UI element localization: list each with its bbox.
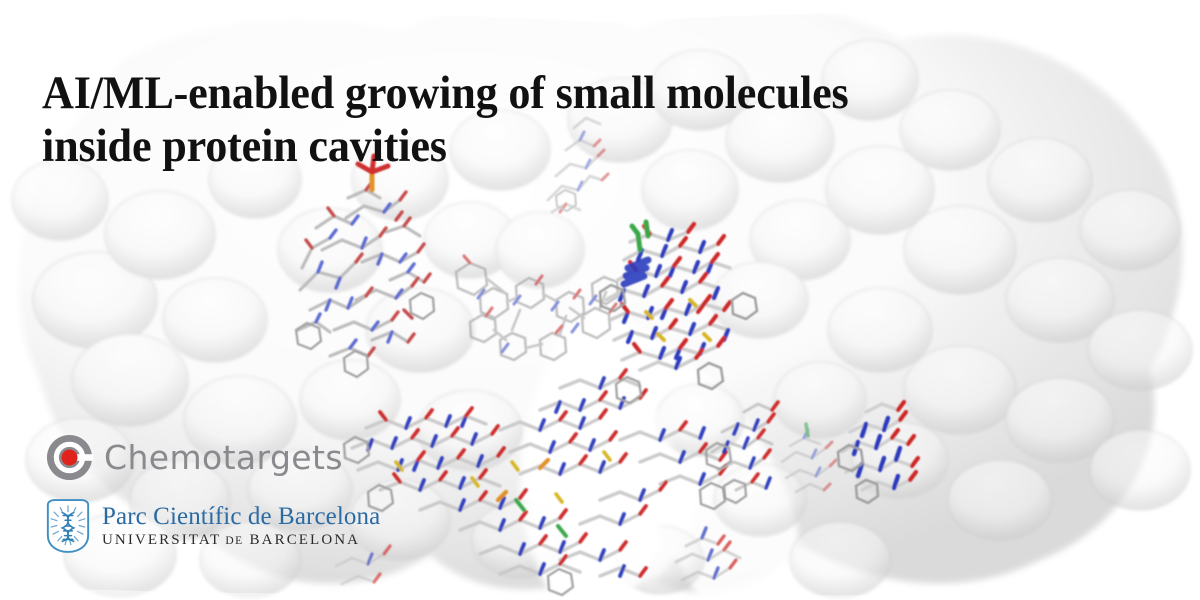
pcb-university-prefix: UNIVERSITAT	[102, 532, 221, 548]
headline: AI/ML-enabled growing of small molecules…	[42, 67, 1038, 173]
banner: AI/ML-enabled growing of small molecules…	[0, 0, 1200, 600]
pcb-logo[interactable]: Parc Científic de Barcelona UNIVERSITATD…	[44, 498, 380, 554]
chemotargets-c-mark	[46, 434, 93, 481]
pcb-university: UNIVERSITATDEBARCELONA	[102, 532, 380, 549]
chemotargets-wordmark: Chemotargets	[104, 441, 343, 474]
pcb-dna-shield-mark	[44, 498, 92, 554]
chemotargets-logo[interactable]: Chemotargets	[46, 434, 343, 481]
pcb-text-block: Parc Científic de Barcelona UNIVERSITATD…	[102, 504, 380, 548]
pcb-university-connector: DE	[225, 535, 243, 547]
pcb-university-suffix: BARCELONA	[250, 532, 361, 548]
pcb-name: Parc Científic de Barcelona	[102, 504, 380, 531]
